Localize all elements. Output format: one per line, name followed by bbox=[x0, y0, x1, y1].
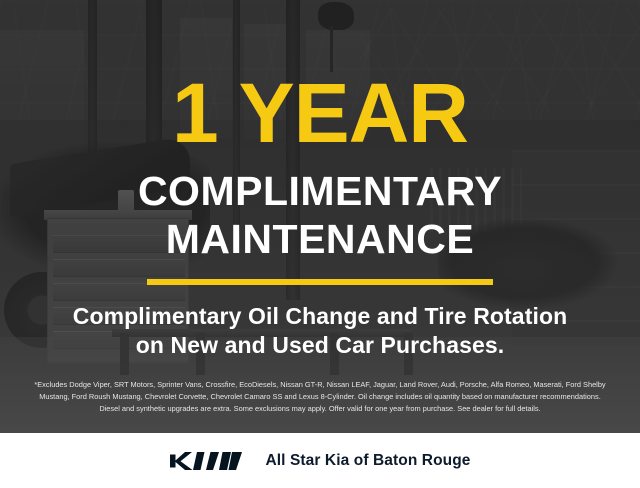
subheadline-line-2: on New and Used Car Purchases. bbox=[73, 331, 568, 360]
disclaimer-line-2: Mustang, Ford Roush Mustang, Chevrolet C… bbox=[13, 391, 627, 403]
yellow-divider-rule bbox=[147, 279, 493, 285]
kia-logo bbox=[169, 450, 243, 472]
headline-maintenance: MAINTENANCE bbox=[166, 219, 474, 260]
headline-complimentary: COMPLIMENTARY bbox=[138, 171, 502, 212]
banner-content: 1 YEAR COMPLIMENTARY MAINTENANCE Complim… bbox=[0, 0, 640, 488]
disclaimer-line-3: Diesel and synthetic upgrades are extra.… bbox=[13, 403, 627, 415]
headline-primary: 1 YEAR bbox=[172, 78, 468, 149]
promotional-banner: 1 YEAR COMPLIMENTARY MAINTENANCE Complim… bbox=[0, 0, 640, 488]
subheadline-line-1: Complimentary Oil Change and Tire Rotati… bbox=[73, 303, 568, 329]
disclaimer-text: *Excludes Dodge Viper, SRT Motors, Sprin… bbox=[13, 379, 627, 415]
footer-bar: All Star Kia of Baton Rouge bbox=[0, 433, 640, 488]
disclaimer-line-1: *Excludes Dodge Viper, SRT Motors, Sprin… bbox=[13, 379, 627, 391]
subheadline: Complimentary Oil Change and Tire Rotati… bbox=[73, 302, 568, 361]
dealer-name: All Star Kia of Baton Rouge bbox=[265, 452, 470, 470]
